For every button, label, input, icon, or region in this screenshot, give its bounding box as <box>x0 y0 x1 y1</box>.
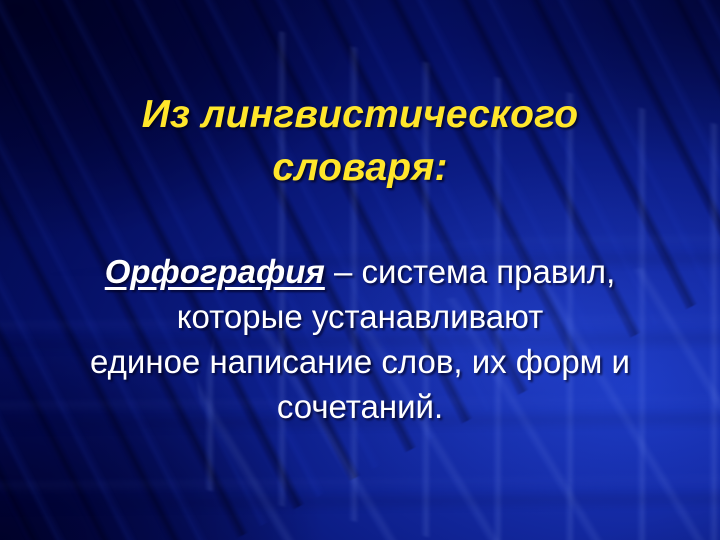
presentation-slide: Из лингвистического словаря: Орфография … <box>0 0 720 540</box>
title-line-1: Из лингвистического <box>0 88 720 141</box>
body-line-4: сочетаний. <box>10 384 710 429</box>
slide-body: Орфография – система правил, которые уст… <box>10 249 710 429</box>
slide-title: Из лингвистического словаря: <box>0 88 720 194</box>
definition-separator: – <box>325 253 362 290</box>
defined-term: Орфография <box>105 253 325 290</box>
body-line-3: единое написание слов, их форм и <box>10 339 710 384</box>
body-line-1: Орфография – система правил, <box>10 249 710 294</box>
body-line-2: которые устанавливают <box>10 294 710 339</box>
slide-content: Из лингвистического словаря: Орфография … <box>0 0 720 540</box>
title-line-2: словаря: <box>0 141 720 194</box>
body-line-1-text: система правил, <box>362 253 616 290</box>
